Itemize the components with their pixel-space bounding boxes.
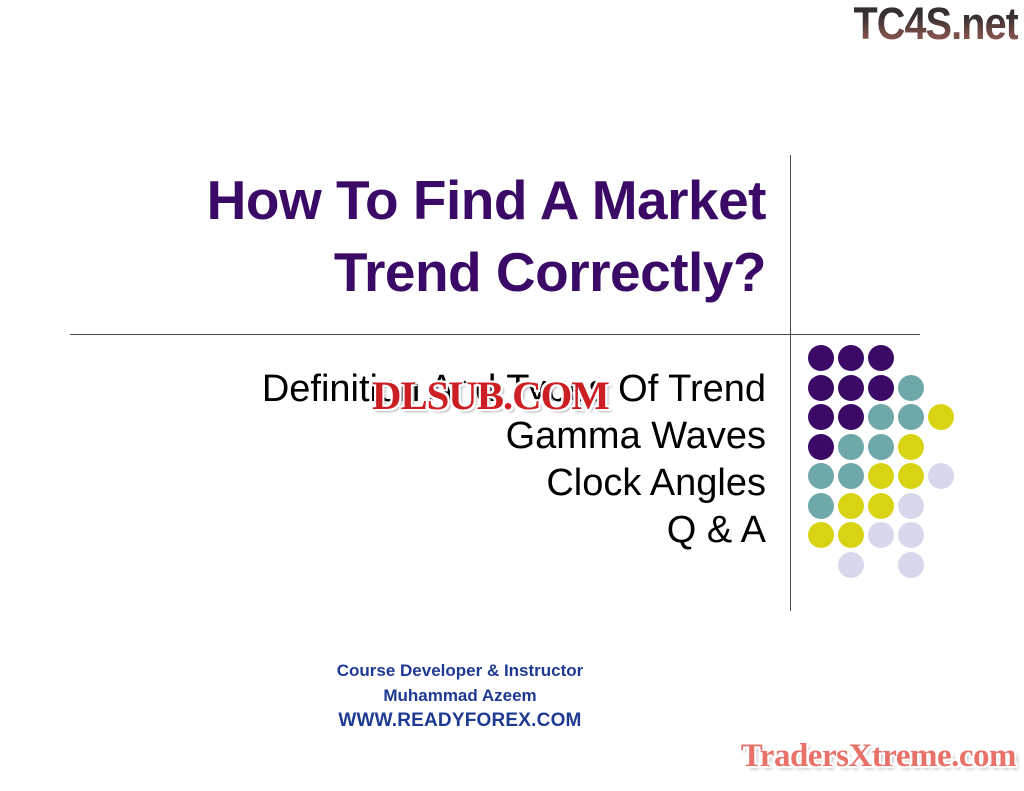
dot-teal: [838, 463, 864, 489]
dot-empty: [808, 552, 834, 578]
dot-empty: [928, 345, 954, 371]
agenda-item-gamma-waves: Gamma Waves: [60, 413, 766, 460]
dot-yellow: [838, 522, 864, 548]
dot-empty: [928, 522, 954, 548]
dot-lavender: [898, 552, 924, 578]
dot-teal: [868, 404, 894, 430]
dot-purple: [808, 375, 834, 401]
dot-empty: [868, 552, 894, 578]
dot-lavender: [898, 493, 924, 519]
dot-yellow: [898, 434, 924, 460]
dot-teal: [868, 434, 894, 460]
decorative-dot-matrix: [808, 345, 958, 581]
credits-role: Course Developer & Instructor: [210, 658, 710, 683]
dot-yellow: [898, 463, 924, 489]
dot-row: [808, 552, 958, 582]
dot-row: [808, 493, 958, 523]
dot-yellow: [838, 493, 864, 519]
dot-row: [808, 375, 958, 405]
vertical-divider: [790, 155, 791, 611]
dot-empty: [928, 375, 954, 401]
dot-teal: [898, 375, 924, 401]
dot-row: [808, 345, 958, 375]
presentation-slide: TC4S.net How To Find A Market Trend Corr…: [0, 0, 1024, 791]
dot-teal: [838, 434, 864, 460]
dot-teal: [808, 463, 834, 489]
dot-purple: [808, 404, 834, 430]
credits-block: Course Developer & Instructor Muhammad A…: [210, 658, 710, 733]
dot-purple: [868, 375, 894, 401]
dot-row: [808, 463, 958, 493]
dot-yellow: [868, 493, 894, 519]
agenda-item-definition: Definition And Types Of Trend: [60, 366, 766, 413]
dot-lavender: [898, 522, 924, 548]
dot-purple: [838, 404, 864, 430]
dot-row: [808, 404, 958, 434]
dot-purple: [808, 345, 834, 371]
dot-empty: [898, 345, 924, 371]
dot-row: [808, 522, 958, 552]
dot-lavender: [928, 463, 954, 489]
dot-purple: [838, 375, 864, 401]
dot-purple: [838, 345, 864, 371]
credits-website: WWW.READYFOREX.COM: [210, 708, 710, 733]
agenda-item-clock-angles: Clock Angles: [60, 460, 766, 507]
slide-title: How To Find A Market Trend Correctly?: [60, 164, 766, 308]
dot-lavender: [838, 552, 864, 578]
agenda-list: Definition And Types Of Trend Gamma Wave…: [60, 366, 766, 554]
agenda-item-qa: Q & A: [60, 507, 766, 554]
title-line-1: How To Find A Market: [60, 164, 766, 236]
dot-yellow: [928, 404, 954, 430]
dot-row: [808, 434, 958, 464]
credits-name: Muhammad Azeem: [210, 683, 710, 708]
dot-yellow: [868, 463, 894, 489]
dot-yellow: [808, 522, 834, 548]
dot-lavender: [868, 522, 894, 548]
dot-empty: [928, 493, 954, 519]
tc4s-brand-logo: TC4S.net: [853, 0, 1018, 50]
dot-teal: [808, 493, 834, 519]
dot-empty: [928, 552, 954, 578]
tradersxtreme-brand-logo: TradersXtreme.com: [741, 738, 1016, 775]
dot-purple: [808, 434, 834, 460]
dot-purple: [868, 345, 894, 371]
horizontal-divider: [70, 334, 920, 335]
title-line-2: Trend Correctly?: [60, 236, 766, 308]
dot-empty: [928, 434, 954, 460]
dot-teal: [898, 404, 924, 430]
